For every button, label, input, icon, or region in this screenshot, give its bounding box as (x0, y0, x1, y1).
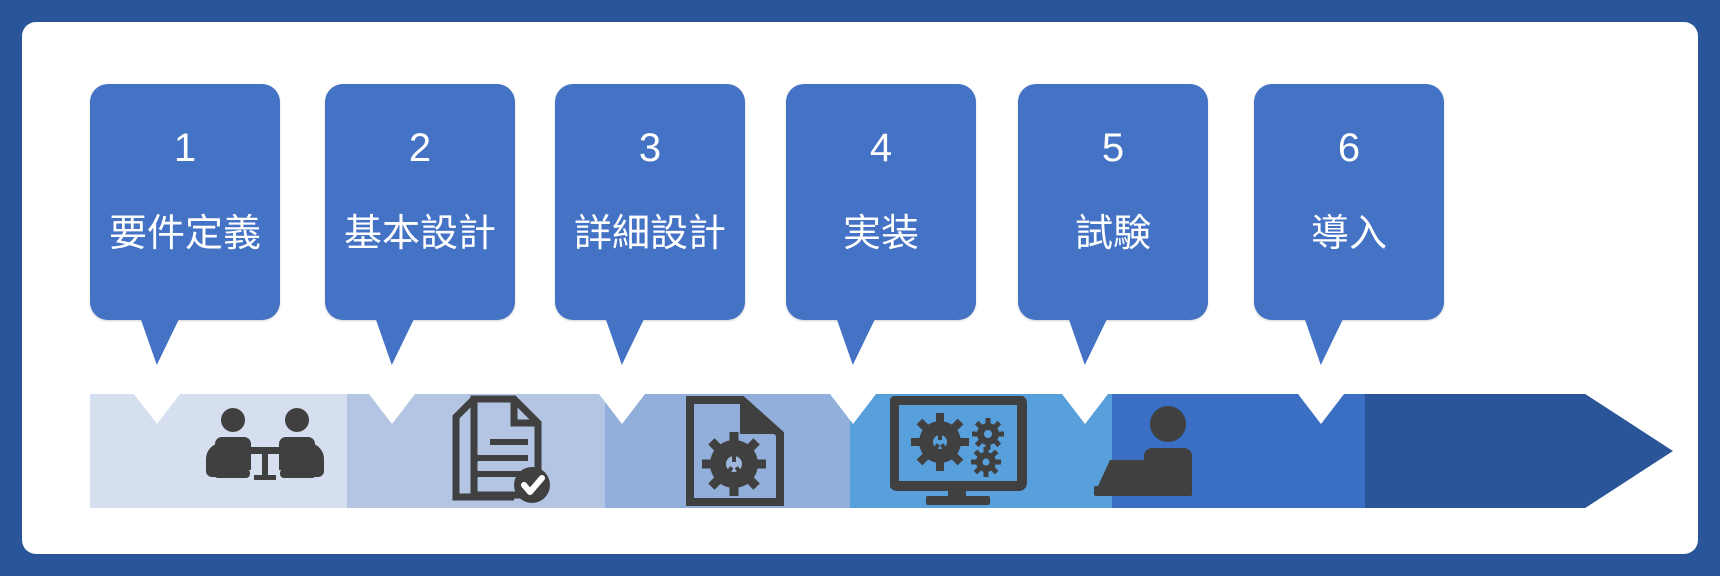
callout-tail (140, 317, 180, 365)
step-label: 試験 (1018, 214, 1208, 256)
step-callout-3[interactable]: 3 詳細設計 (555, 84, 745, 320)
step-callout-2[interactable]: 2 基本設計 (325, 84, 515, 320)
step-number: 4 (786, 128, 976, 168)
step-number: 3 (555, 128, 745, 168)
callout-tail (836, 317, 876, 365)
outer-frame: 1 要件定義 2 基本設計 3 詳細設計 4 実装 (0, 0, 1720, 576)
diagram-canvas: 1 要件定義 2 基本設計 3 詳細設計 4 実装 (0, 0, 1720, 576)
step-label: 導入 (1254, 214, 1444, 256)
step-callout-1[interactable]: 1 要件定義 (90, 84, 280, 320)
white-panel: 1 要件定義 2 基本設計 3 詳細設計 4 実装 (22, 22, 1698, 554)
callout-tail (375, 317, 415, 365)
callout-tail (1304, 317, 1344, 365)
step-label: 要件定義 (90, 214, 280, 256)
step-number: 1 (90, 128, 280, 168)
callout-body (555, 84, 745, 320)
document-check-icon (444, 395, 560, 507)
callout-body (1018, 84, 1208, 320)
callout-body (1254, 84, 1444, 320)
step-callout-5[interactable]: 5 試験 (1018, 84, 1208, 320)
person-laptop-icon (1090, 402, 1204, 500)
document-gear-icon (682, 394, 788, 508)
monitor-gears-icon (890, 396, 1034, 506)
step-callout-4[interactable]: 4 実装 (786, 84, 976, 320)
step-label: 詳細設計 (555, 214, 745, 256)
two-people-at-table-icon (200, 403, 330, 499)
callout-tail (605, 317, 645, 365)
step-label: 実装 (786, 214, 976, 256)
step-callout-6[interactable]: 6 導入 (1254, 84, 1444, 320)
step-number: 6 (1254, 128, 1444, 168)
process-arrow-band (90, 394, 1673, 508)
callout-body (90, 84, 280, 320)
callout-tail (1068, 317, 1108, 365)
callout-body (325, 84, 515, 320)
step-number: 2 (325, 128, 515, 168)
band-segment-6 (1365, 394, 1673, 508)
step-label: 基本設計 (325, 214, 515, 256)
callout-body (786, 84, 976, 320)
step-number: 5 (1018, 128, 1208, 168)
